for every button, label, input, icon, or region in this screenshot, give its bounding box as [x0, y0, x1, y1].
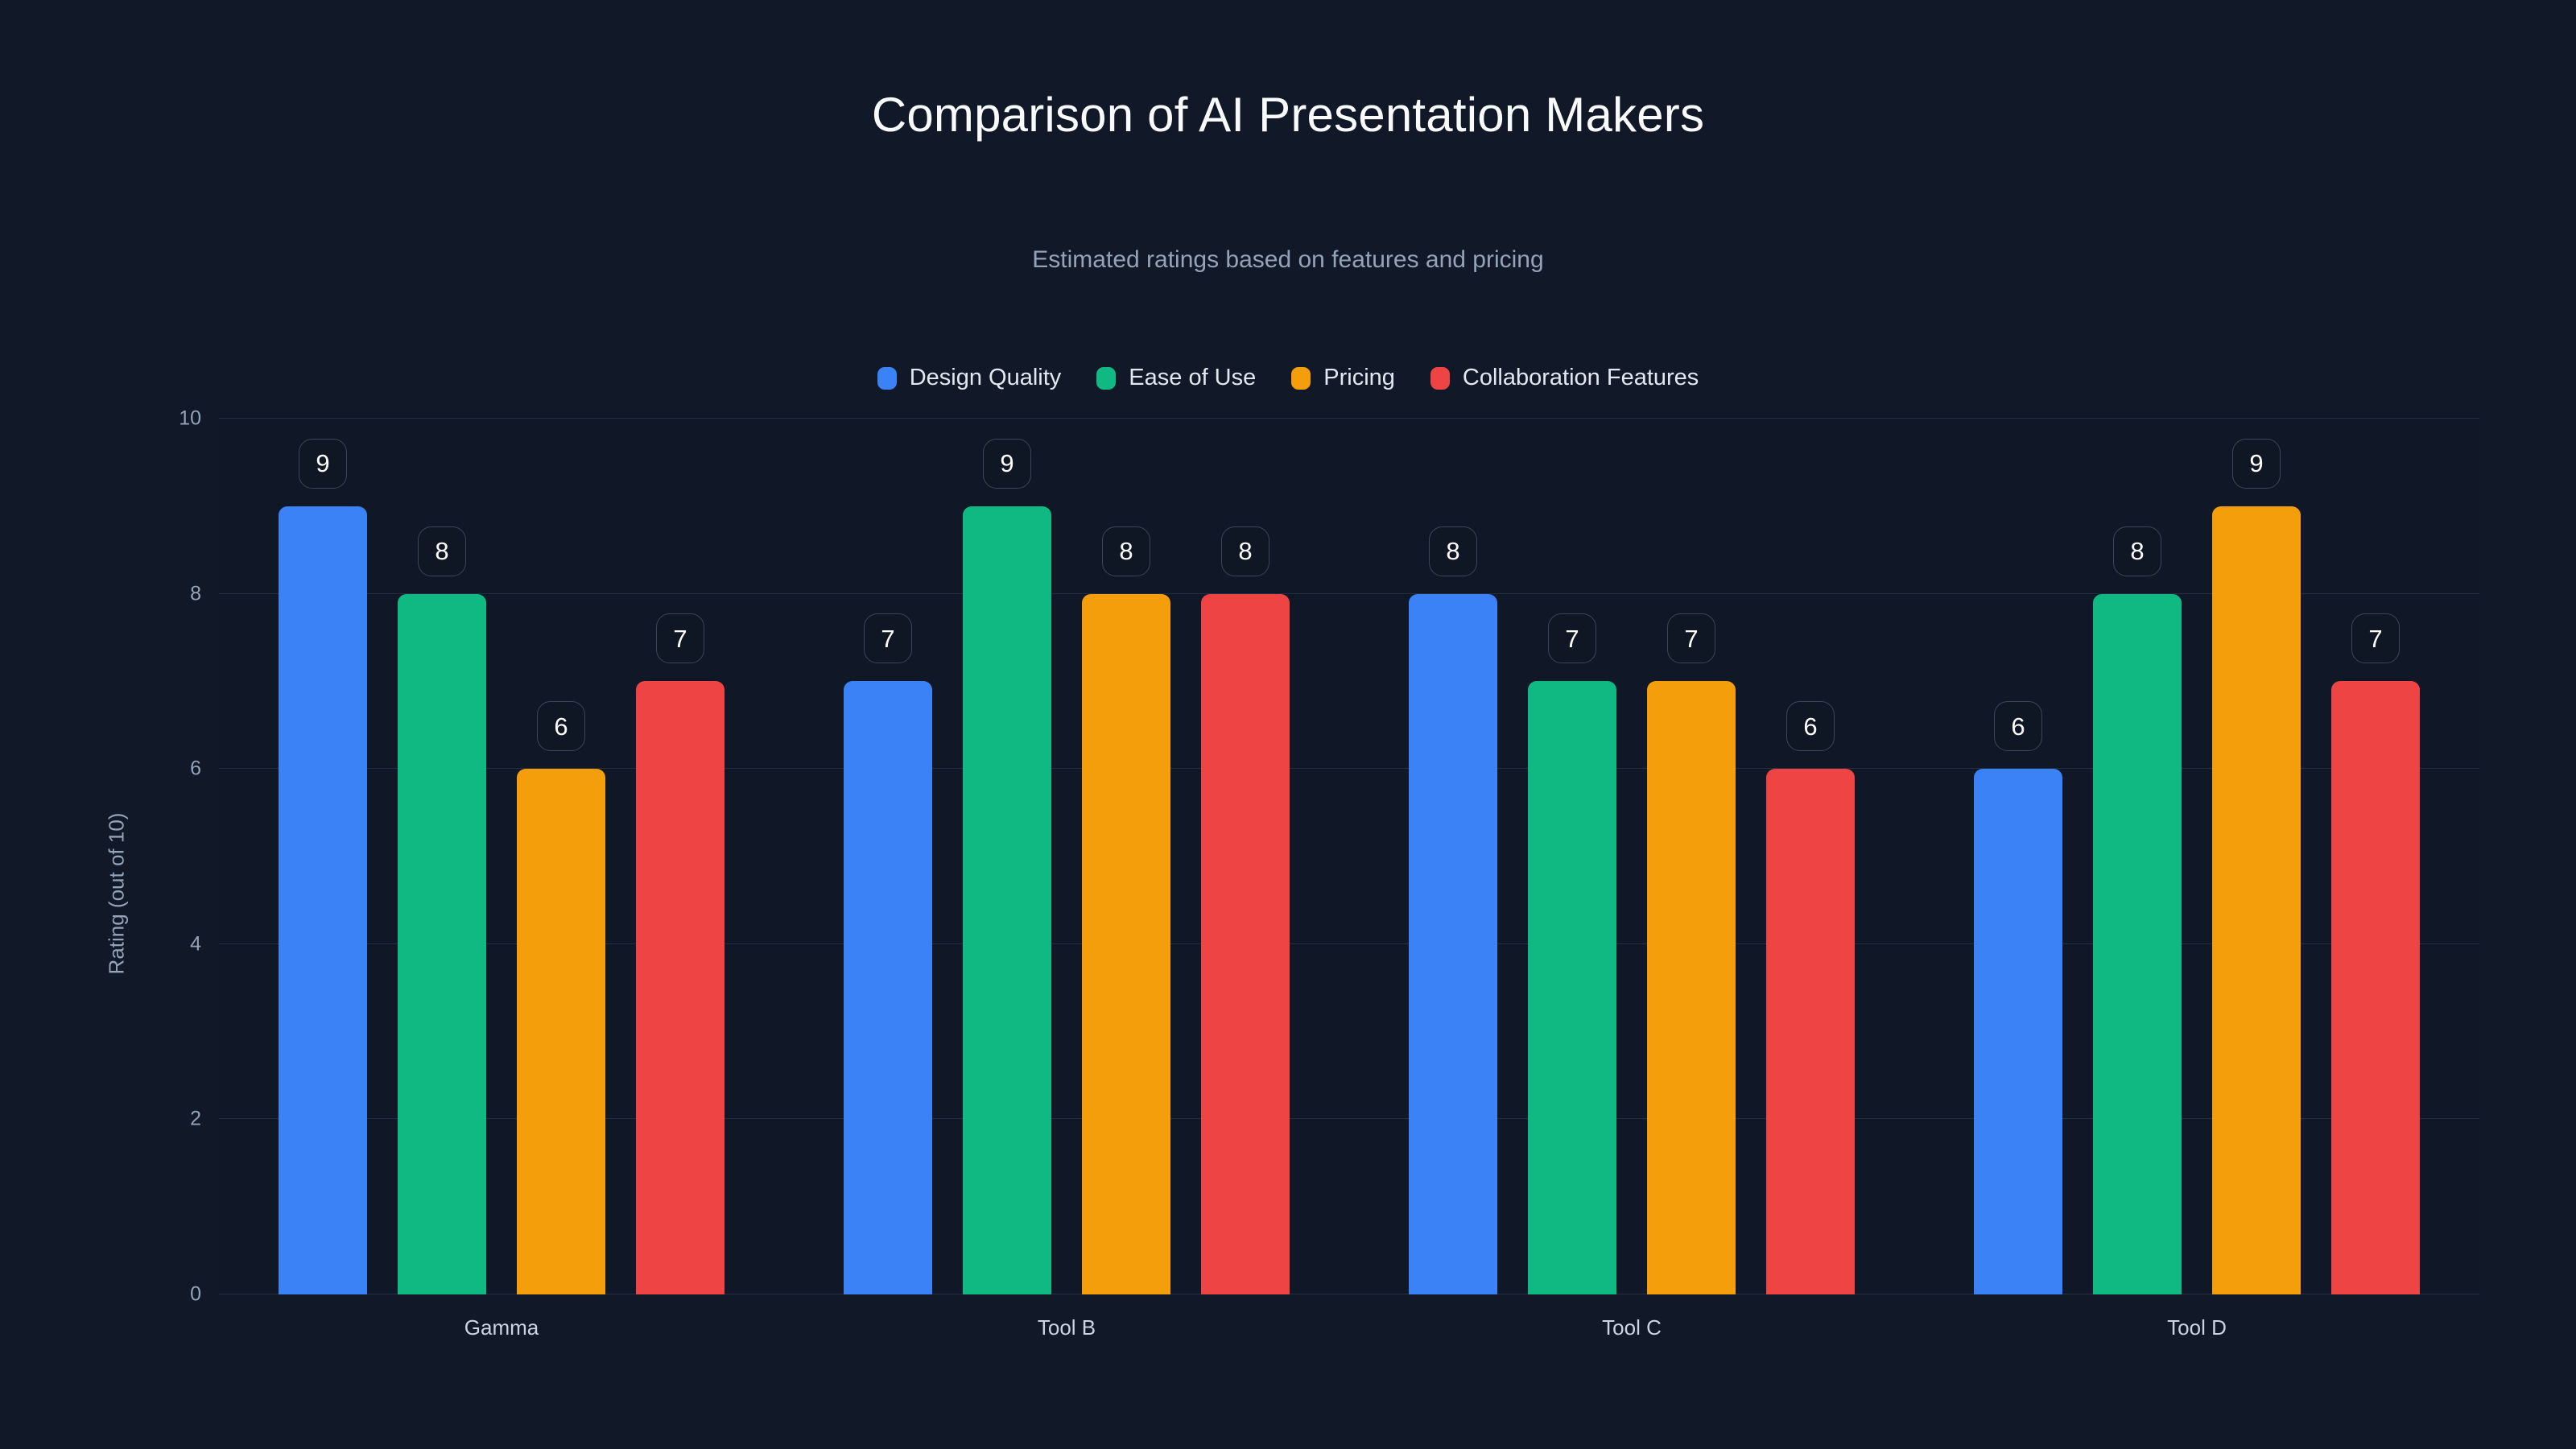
bar-tool-c-design-quality[interactable]	[1409, 594, 1497, 1294]
legend-item-2[interactable]: Pricing	[1291, 366, 1395, 390]
y-axis-ticks: 0246810	[0, 419, 201, 1294]
value-badge: 9	[299, 439, 347, 489]
bar-tool-c-ease-of-use[interactable]	[1528, 681, 1616, 1294]
y-axis-title: Rating (out of 10)	[105, 813, 130, 975]
value-badge: 7	[656, 613, 704, 663]
x-category-label-1: Tool B	[1038, 1317, 1096, 1338]
value-badge: 8	[418, 526, 466, 576]
x-category-label-3: Tool D	[2167, 1317, 2227, 1338]
chart-subtitle: Estimated ratings based on features and …	[0, 246, 2576, 274]
value-badge: 8	[1429, 526, 1477, 576]
value-badge: 9	[983, 439, 1031, 489]
x-category-label-2: Tool C	[1602, 1317, 1662, 1338]
square-swatch-icon	[877, 367, 897, 390]
legend-item-1[interactable]: Ease of Use	[1096, 366, 1256, 390]
value-badge: 9	[2232, 439, 2281, 489]
value-badge: 8	[1221, 526, 1269, 576]
chart-page: Comparison of AI Presentation Makers Est…	[0, 0, 2576, 1449]
legend-item-label: Pricing	[1323, 366, 1395, 390]
square-swatch-icon	[1291, 367, 1311, 390]
legend-item-label: Collaboration Features	[1463, 366, 1699, 390]
bar-tool-c-pricing[interactable]	[1647, 681, 1736, 1294]
x-axis-category-labels: GammaTool BTool CTool D	[219, 1317, 2479, 1357]
y-tick-label-2: 2	[8, 1109, 201, 1129]
gridline-10	[219, 418, 2479, 419]
bar-gamma-design-quality[interactable]	[279, 506, 367, 1294]
legend-item-0[interactable]: Design Quality	[877, 366, 1062, 390]
bar-tool-d-collaboration-features[interactable]	[2331, 681, 2420, 1294]
legend-item-3[interactable]: Collaboration Features	[1430, 366, 1699, 390]
bar-tool-d-ease-of-use[interactable]	[2093, 594, 2182, 1294]
legend-item-label: Ease of Use	[1129, 366, 1256, 390]
bar-gamma-ease-of-use[interactable]	[398, 594, 486, 1294]
bar-tool-b-ease-of-use[interactable]	[963, 506, 1051, 1294]
plot-area: 9867798887766897	[219, 419, 2479, 1294]
value-badge: 7	[1667, 613, 1715, 663]
bar-tool-b-collaboration-features[interactable]	[1201, 594, 1290, 1294]
y-tick-label-6: 6	[8, 759, 201, 779]
y-tick-label-8: 8	[8, 584, 201, 604]
bar-tool-b-design-quality[interactable]	[844, 681, 932, 1294]
y-tick-label-0: 0	[8, 1285, 201, 1305]
square-swatch-icon	[1430, 367, 1450, 390]
chart-legend: Design QualityEase of UsePricingCollabor…	[0, 366, 2576, 390]
bar-tool-d-pricing[interactable]	[2212, 506, 2301, 1294]
value-badge: 8	[1102, 526, 1150, 576]
x-category-label-0: Gamma	[464, 1317, 539, 1338]
value-badge: 6	[1994, 701, 2042, 751]
bar-tool-c-collaboration-features[interactable]	[1766, 769, 1855, 1294]
value-badge: 7	[2351, 613, 2400, 663]
value-badge: 8	[2113, 526, 2161, 576]
page-title: Comparison of AI Presentation Makers	[0, 87, 2576, 142]
value-badge: 6	[537, 701, 585, 751]
bar-tool-d-design-quality[interactable]	[1974, 769, 2062, 1294]
value-badge: 6	[1786, 701, 1835, 751]
value-badge: 7	[864, 613, 912, 663]
y-tick-label-10: 10	[8, 409, 201, 429]
square-swatch-icon	[1096, 367, 1116, 390]
bar-gamma-collaboration-features[interactable]	[636, 681, 724, 1294]
value-badge: 7	[1548, 613, 1596, 663]
bar-tool-b-pricing[interactable]	[1082, 594, 1170, 1294]
legend-item-label: Design Quality	[910, 366, 1062, 390]
bar-gamma-pricing[interactable]	[517, 769, 605, 1294]
